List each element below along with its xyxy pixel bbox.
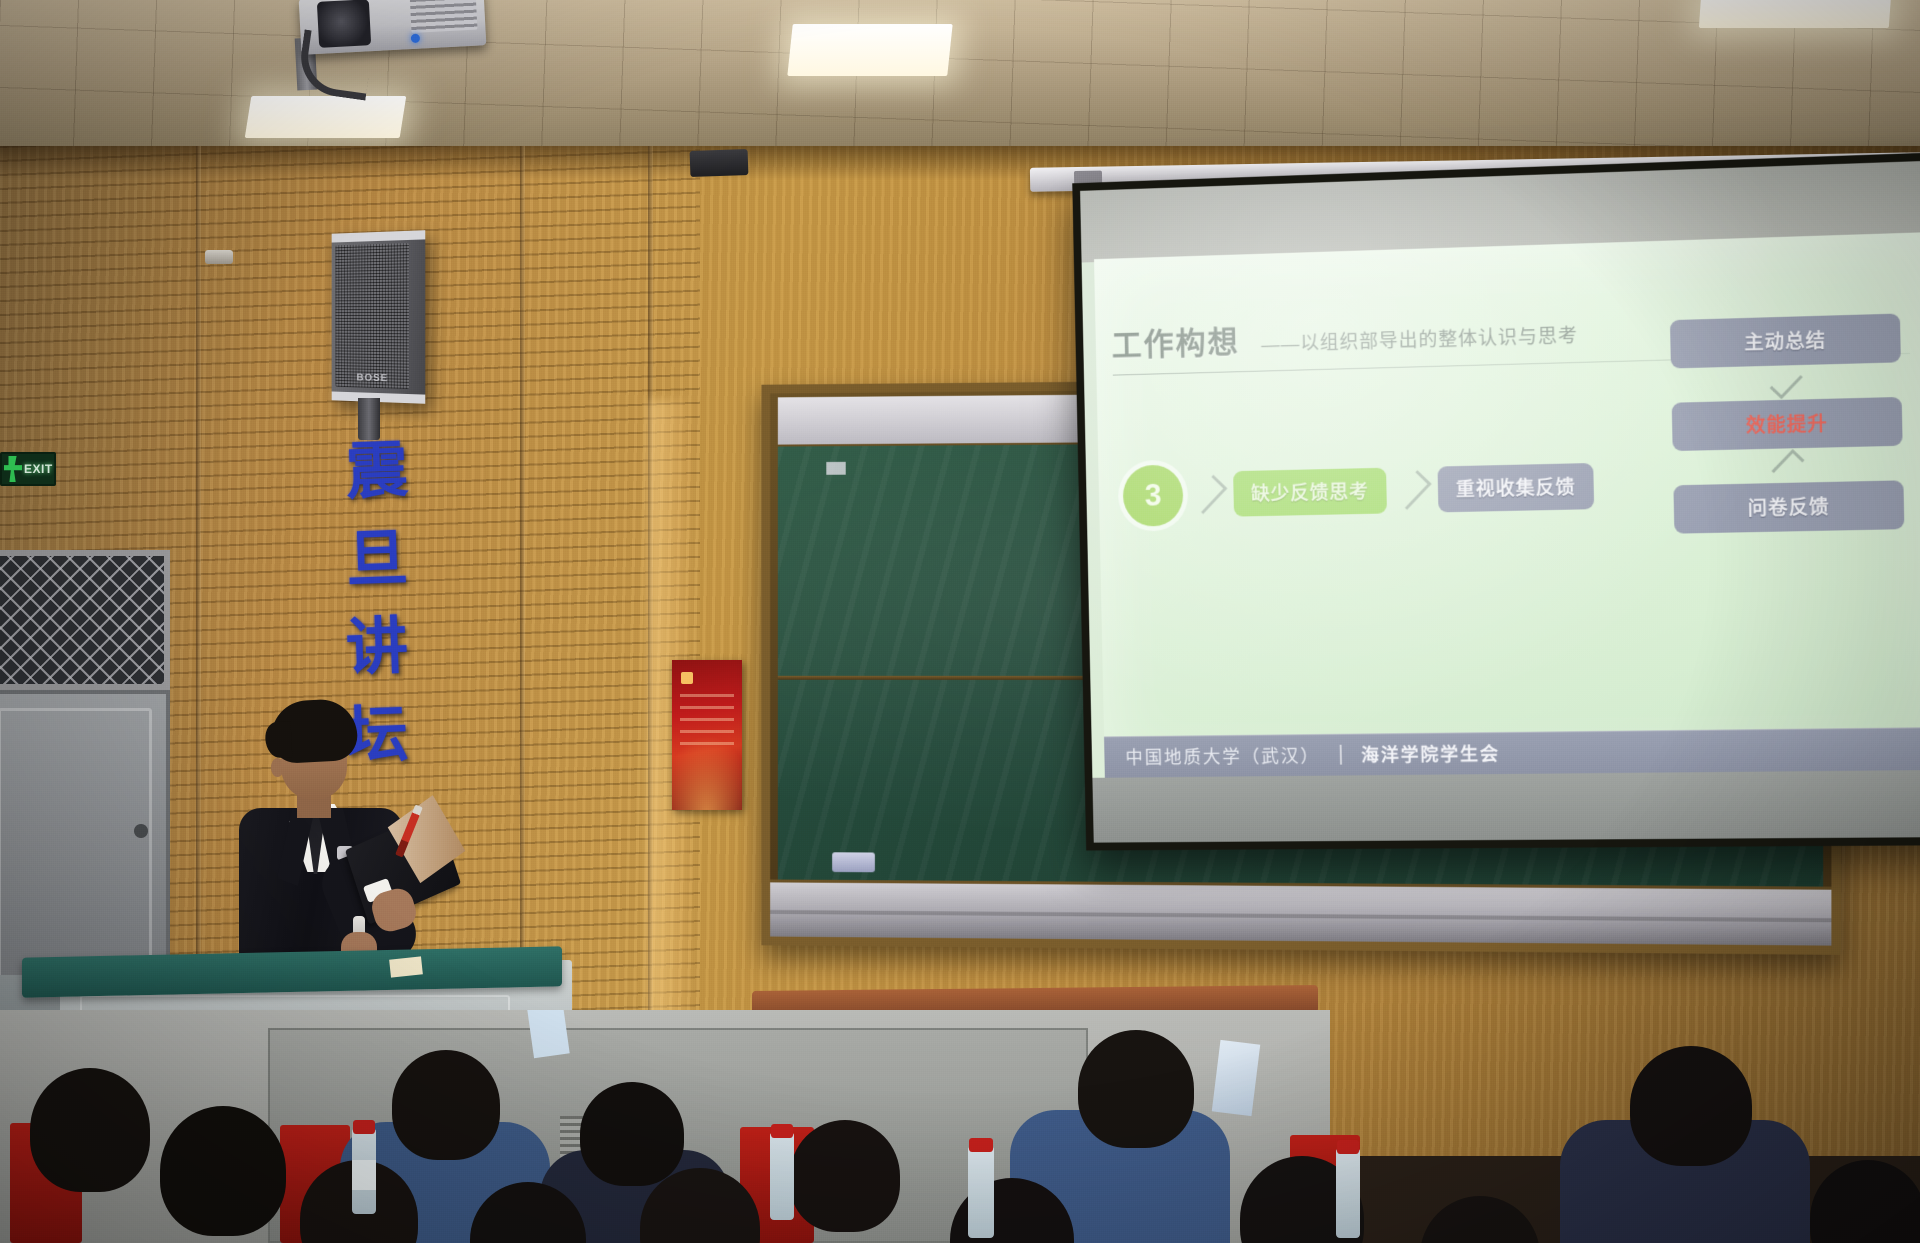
projector-vents	[410, 0, 478, 33]
footer-organization: 海洋学院学生会	[1361, 740, 1500, 767]
slide-subtitle: ——以组织部导出的整体认识与思考	[1261, 321, 1578, 361]
poster-seal-icon	[681, 672, 693, 684]
door-knob-icon[interactable]	[134, 824, 148, 838]
audience-area	[0, 1010, 1920, 1243]
side-window	[0, 550, 170, 690]
step-number-badge: 3	[1122, 464, 1183, 526]
slide-footer: 中国地质大学（武汉） 海洋学院学生会	[1104, 727, 1920, 778]
bottle-cap-icon	[1337, 1140, 1359, 1154]
ceiling-light-panel	[1699, 0, 1891, 28]
chalkboard-tray	[770, 879, 1831, 945]
bottle-cap-icon	[969, 1138, 993, 1152]
audience-member-head	[1810, 1160, 1920, 1243]
ceiling-light-panel	[245, 96, 407, 138]
wall-poster	[672, 660, 742, 810]
process-chain: 3 缺少反馈思考 重视收集反馈	[1122, 455, 1594, 527]
running-person-icon	[4, 456, 22, 482]
bottle-cap-icon	[353, 1120, 375, 1134]
water-bottle	[770, 1132, 794, 1220]
podium-paper	[389, 956, 423, 977]
wall-speaker: BOSE	[332, 230, 426, 404]
chevron-up-icon	[1771, 449, 1804, 482]
presenter-hair	[269, 698, 358, 764]
footer-institution: 中国地质大学（武汉）	[1125, 742, 1320, 770]
audience-member-head	[160, 1106, 286, 1236]
speaker-brand-label: BOSE	[357, 372, 389, 384]
outcome-box-top: 主动总结	[1670, 313, 1901, 368]
audience-member-head	[1630, 1046, 1752, 1166]
ceiling-light-panel	[787, 24, 952, 76]
smoke-detector-icon	[205, 250, 233, 264]
calligraphy-char: 旦	[345, 527, 409, 591]
audience-member-head	[580, 1082, 684, 1186]
water-bottle	[968, 1146, 994, 1238]
chevron-right-icon	[1393, 470, 1432, 510]
calligraphy-char: 震	[345, 439, 409, 503]
screen-mount-bracket	[690, 149, 749, 177]
poster-glow	[672, 735, 742, 810]
outcome-stack: 主动总结 效能提升 问卷反馈	[1670, 313, 1904, 533]
presentation-slide: 工作构想 ——以组织部导出的整体认识与思考 3 缺少反馈思考 重视收集反馈 主动…	[1094, 232, 1920, 778]
outcome-box-bottom: 问卷反馈	[1674, 480, 1905, 533]
projector-power-led	[411, 34, 420, 43]
projection-screen: 工作构想 ——以组织部导出的整体认识与思考 3 缺少反馈思考 重视收集反馈 主动…	[1072, 152, 1920, 850]
audience-member-head	[392, 1050, 500, 1160]
audience-member-head	[1078, 1030, 1194, 1148]
chalkboard-eraser[interactable]	[832, 852, 875, 872]
chevron-right-icon	[1189, 475, 1227, 514]
bottle-cap-icon	[771, 1124, 793, 1138]
chain-box-problem: 缺少反馈思考	[1233, 468, 1387, 517]
exit-sign: EXIT	[0, 452, 56, 486]
screen-bottom-margin	[1092, 769, 1920, 842]
lecture-hall-scene: EXIT BOSE 震 旦 讲 坛	[0, 0, 1920, 1243]
audience-member-head	[30, 1068, 150, 1192]
slide-title: 工作构想	[1111, 317, 1240, 365]
calligraphy-char: 讲	[345, 615, 409, 679]
held-paper	[526, 1010, 569, 1058]
footer-divider	[1339, 745, 1341, 765]
water-bottle	[1336, 1148, 1360, 1238]
speaker-grille	[335, 243, 408, 389]
chevron-down-icon	[1770, 366, 1803, 399]
audience-member-head	[1420, 1196, 1540, 1243]
chalk-mark	[826, 462, 845, 475]
bottle-label	[352, 1160, 376, 1190]
screen-surface: 工作构想 ——以组织部导出的整体认识与思考 3 缺少反馈思考 重视收集反馈 主动…	[1080, 161, 1920, 843]
chain-box-solution: 重视收集反馈	[1438, 463, 1595, 512]
audience-member-head	[790, 1120, 900, 1232]
projected-slide-area: 工作构想 ——以组织部导出的整体认识与思考 3 缺少反馈思考 重视收集反馈 主动…	[1094, 232, 1920, 778]
outcome-box-middle: 效能提升	[1672, 397, 1903, 451]
exit-sign-label: EXIT	[24, 462, 53, 476]
